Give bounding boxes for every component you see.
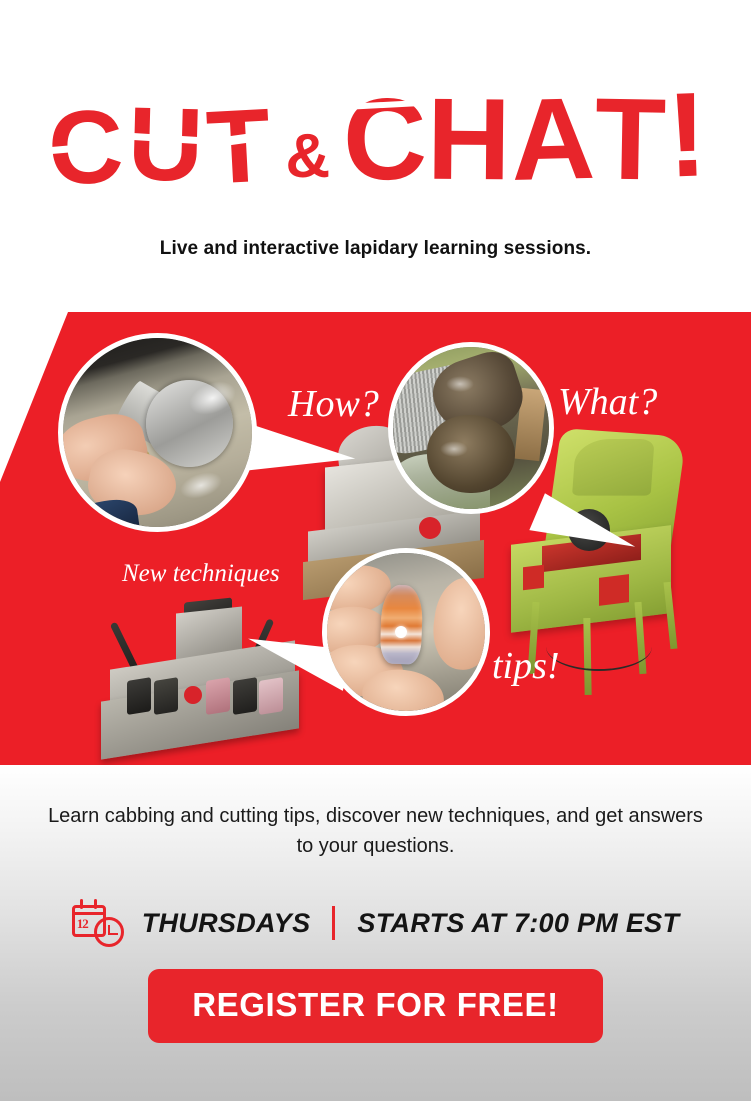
schedule-divider <box>332 906 335 940</box>
label-tips: tips! <box>492 644 560 688</box>
schedule-time: STARTS AT 7:00 PM EST <box>357 908 679 939</box>
body-copy: Learn cabbing and cutting tips, discover… <box>38 801 713 861</box>
schedule-day: THURSDAYS <box>142 908 311 939</box>
title-letter-c2: C <box>342 80 424 197</box>
schedule-row: 12 THURSDAYS STARTS AT 7:00 PM EST <box>0 899 751 947</box>
title-line: C U T & C H A T ! <box>48 78 702 198</box>
flat-lap-wheel <box>127 677 151 715</box>
slab-saw-cable <box>546 623 652 671</box>
photo-bubble-agate-cabochon <box>322 548 490 716</box>
rock-lower <box>427 415 514 493</box>
calendar-clock-icon: 12 <box>72 899 124 947</box>
title-letter-a: A <box>510 80 593 198</box>
poster-subtitle: Live and interactive lapidary learning s… <box>0 238 751 260</box>
photo-bubble-rock-being-cut <box>388 342 554 514</box>
photo-content <box>393 347 549 509</box>
photo-bubble-trim-saw-hands <box>58 333 257 532</box>
label-new-techniques: New techniques <box>122 560 280 588</box>
flat-lap-wheel <box>233 677 257 715</box>
title-letter-c: C <box>47 95 126 202</box>
title-word-cut: C U T <box>48 94 271 198</box>
flat-lap-wheel <box>206 677 230 715</box>
flat-lap-wheel <box>259 677 283 715</box>
label-how: How? <box>288 382 379 426</box>
bottom-section: Learn cabbing and cutting tips, discover… <box>0 765 751 1101</box>
poster-title: C U T & C H A T ! <box>0 78 751 203</box>
register-for-free-button[interactable]: REGISTER FOR FREE! <box>148 969 603 1043</box>
agate-cabochon <box>379 584 423 664</box>
title-letter-exclamation: ! <box>664 74 704 195</box>
cta-container: REGISTER FOR FREE! <box>0 969 751 1043</box>
slab-saw-red-panel <box>599 575 629 607</box>
title-letter-t: T <box>205 93 274 200</box>
photo-content <box>327 553 485 711</box>
poster-canvas: C U T & C H A T ! Live and interactive l… <box>0 0 751 1101</box>
trim-saw-red-label <box>419 517 441 539</box>
title-ampersand: & <box>275 126 338 194</box>
calendar-header-line <box>72 912 106 915</box>
label-what: What? <box>558 380 657 424</box>
flat-lap-wheel <box>154 677 178 715</box>
photo-content <box>63 338 252 527</box>
title-word-chat: C H A T ! <box>343 78 703 198</box>
calendar-day-number: 12 <box>77 916 88 932</box>
title-letter-t2: T <box>594 80 663 197</box>
clock-face <box>94 917 124 947</box>
title-letter-u: U <box>127 92 205 198</box>
slab-saw-lid-inner <box>572 439 654 496</box>
slab-saw-red-switch <box>523 565 544 591</box>
title-letter-h: H <box>426 81 507 198</box>
cabochon-highlight <box>395 626 407 638</box>
slab-saw-leg <box>664 581 678 648</box>
rock-highlight <box>440 441 468 457</box>
